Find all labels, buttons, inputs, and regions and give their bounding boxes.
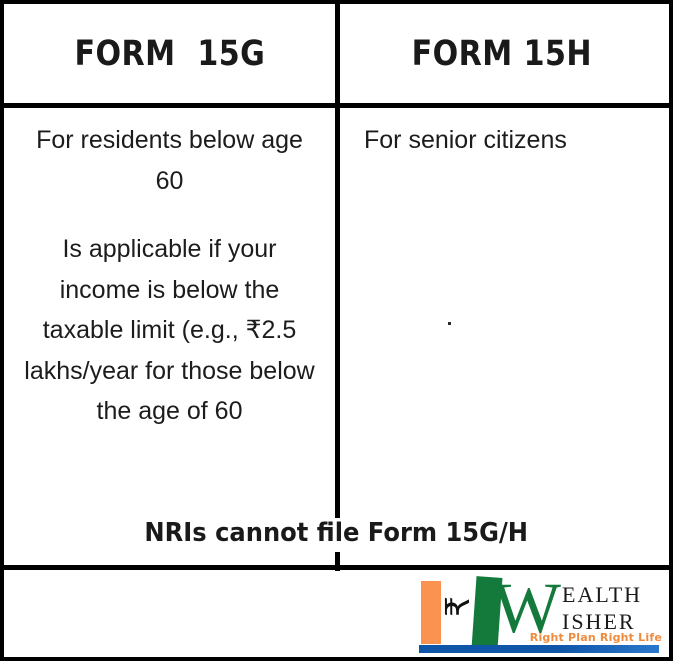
merged-note-text: NRIs cannot file Form 15G/H [139,518,534,548]
comparison-table: FORM 15G FORM 15H For residents below ag… [0,0,673,661]
column-divider-body [335,108,340,519]
body-cell-form-15h: For senior citizens [340,108,669,560]
column-divider-header [335,4,340,103]
form-15h-paragraph-1: For senior citizens [356,120,653,161]
form-15g-paragraph-2: Is applicable if your income is below th… [20,229,319,432]
form-15g-paragraph-1: For residents below age 60 [20,120,319,201]
logo-wordmark: EALTH ISHER [562,582,642,636]
body-cell-form-15g: For residents below age 60 Is applicable… [4,108,335,560]
logo-tagline: Right Plan Right Life [512,631,662,644]
footer-row: ₹ W EALTH ISHER Right Plan Right Life [4,570,669,657]
rupee-symbol-icon: ₹ [441,596,474,617]
logo-word-wealth: EALTH [562,582,642,609]
header-title-form-15g: FORM 15G [74,34,265,74]
header-cell-form-15h: FORM 15H [335,4,669,103]
stray-dot-mark [448,322,451,325]
header-title-form-15h: FORM 15H [412,34,592,74]
wealthwisher-logo: ₹ W EALTH ISHER Right Plan Right Life [414,574,664,654]
logo-blue-bar-icon [419,645,659,653]
header-cell-form-15g: FORM 15G [4,4,335,103]
paragraph-spacer [20,201,319,229]
